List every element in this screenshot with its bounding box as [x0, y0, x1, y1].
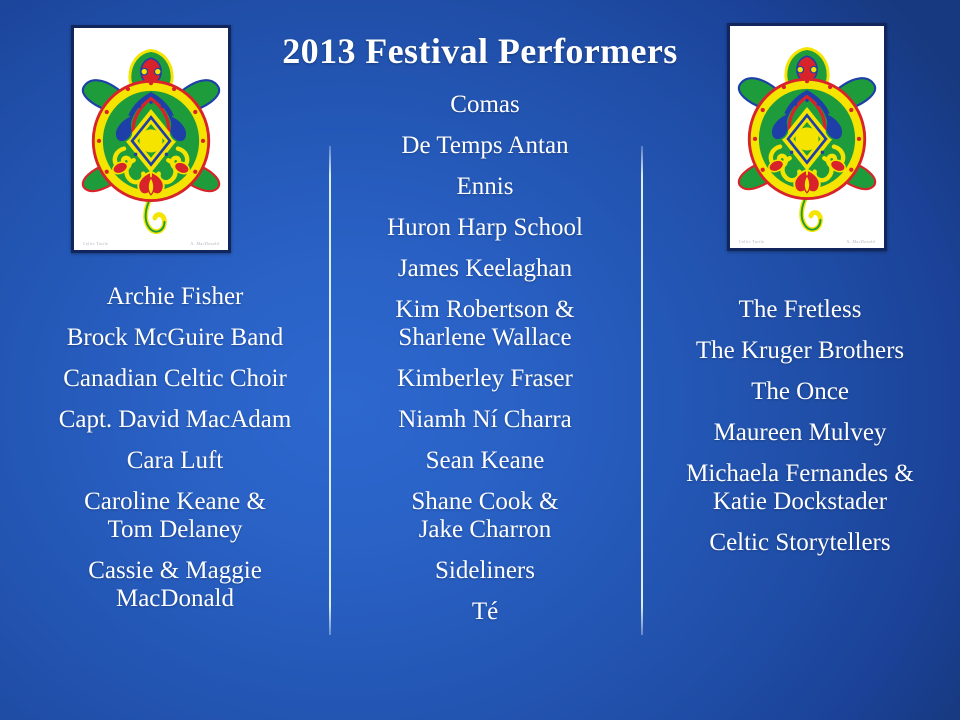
performer-entry: De Temps Antan — [340, 132, 630, 160]
performer-name-line: Jake Charron — [340, 516, 630, 544]
performer-entry: The Fretless — [645, 296, 955, 324]
performer-name-line: Brock McGuire Band — [20, 324, 330, 352]
performer-name-line: Capt. David MacAdam — [20, 406, 330, 434]
performer-entry: Té — [340, 598, 630, 626]
performer-entry: Capt. David MacAdam — [20, 406, 330, 434]
performer-name-line: Cara Luft — [20, 447, 330, 475]
performer-name-line: Kim Robertson & — [340, 296, 630, 324]
performer-name-line: Té — [340, 598, 630, 626]
performer-entry: Brock McGuire Band — [20, 324, 330, 352]
print-edition-mark: Celtic Turtle — [739, 239, 764, 244]
column-divider-right — [641, 146, 643, 635]
performer-entry: Niamh Ní Charra — [340, 406, 630, 434]
performer-entry: Caroline Keane &Tom Delaney — [20, 488, 330, 544]
performer-name-line: Shane Cook & — [340, 488, 630, 516]
print-edition-mark: Celtic Turtle — [83, 241, 108, 246]
performer-name-line: Celtic Storytellers — [645, 529, 955, 557]
performer-name-line: Cassie & Maggie — [20, 557, 330, 585]
artist-signature-mark: A. MacDonald — [190, 241, 219, 246]
performer-name-line: The Once — [645, 378, 955, 406]
performer-name-line: Sharlene Wallace — [340, 324, 630, 352]
artwork-frame-right[interactable]: Celtic Turtle A. MacDonald — [727, 23, 887, 251]
celtic-turtle-icon — [74, 28, 228, 250]
performer-name-line: Sean Keane — [340, 447, 630, 475]
performer-entry: Maureen Mulvey — [645, 419, 955, 447]
performer-entry: The Kruger Brothers — [645, 337, 955, 365]
performer-entry: Michaela Fernandes &Katie Dockstader — [645, 460, 955, 516]
page-title: 2013 Festival Performers — [240, 30, 720, 72]
performer-name-line: James Keelaghan — [340, 255, 630, 283]
performer-name-line: De Temps Antan — [340, 132, 630, 160]
performer-name-line: Huron Harp School — [340, 214, 630, 242]
performer-entry: Comas — [340, 91, 630, 119]
performer-name-line: Katie Dockstader — [645, 488, 955, 516]
performer-name-line: Niamh Ní Charra — [340, 406, 630, 434]
performer-entry: Kim Robertson &Sharlene Wallace — [340, 296, 630, 352]
performer-name-line: MacDonald — [20, 585, 330, 613]
artwork-frame-left[interactable]: Celtic Turtle A. MacDonald — [71, 25, 231, 253]
performer-name-line: Ennis — [340, 173, 630, 201]
celtic-turtle-icon — [730, 26, 884, 248]
performer-entry: Sideliners — [340, 557, 630, 585]
presentation-slide: 2013 Festival Performers — [0, 0, 960, 720]
performer-name-line: Michaela Fernandes & — [645, 460, 955, 488]
performer-entry: Canadian Celtic Choir — [20, 365, 330, 393]
performer-name-line: Maureen Mulvey — [645, 419, 955, 447]
performer-entry: Ennis — [340, 173, 630, 201]
performer-entry: Sean Keane — [340, 447, 630, 475]
performer-entry: Kimberley Fraser — [340, 365, 630, 393]
performer-name-line: Canadian Celtic Choir — [20, 365, 330, 393]
performer-column-left: Archie FisherBrock McGuire BandCanadian … — [20, 283, 330, 613]
performer-name-line: Archie Fisher — [20, 283, 330, 311]
performer-entry: The Once — [645, 378, 955, 406]
performer-column-right: The FretlessThe Kruger BrothersThe OnceM… — [645, 296, 955, 557]
print-signature: Celtic Turtle A. MacDonald — [74, 241, 228, 246]
performer-entry: Archie Fisher — [20, 283, 330, 311]
performer-name-line: Sideliners — [340, 557, 630, 585]
performer-name-line: Comas — [340, 91, 630, 119]
performer-entry: Cassie & MaggieMacDonald — [20, 557, 330, 613]
print-signature: Celtic Turtle A. MacDonald — [730, 239, 884, 244]
performer-name-line: The Fretless — [645, 296, 955, 324]
performer-name-line: Tom Delaney — [20, 516, 330, 544]
performer-entry: James Keelaghan — [340, 255, 630, 283]
performer-entry: Celtic Storytellers — [645, 529, 955, 557]
performer-entry: Cara Luft — [20, 447, 330, 475]
performer-name-line: Caroline Keane & — [20, 488, 330, 516]
artist-signature-mark: A. MacDonald — [846, 239, 875, 244]
performer-column-center: ComasDe Temps AntanEnnisHuron Harp Schoo… — [340, 91, 630, 639]
performer-name-line: The Kruger Brothers — [645, 337, 955, 365]
performer-entry: Huron Harp School — [340, 214, 630, 242]
performer-name-line: Kimberley Fraser — [340, 365, 630, 393]
performer-entry: Shane Cook &Jake Charron — [340, 488, 630, 544]
